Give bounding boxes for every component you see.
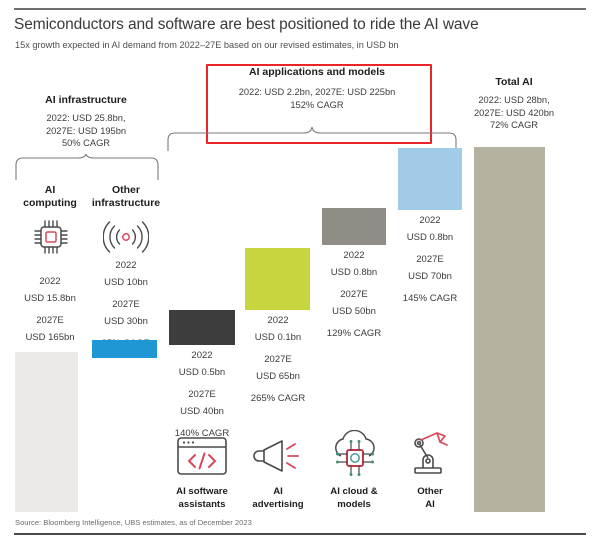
ai-cloud-stat-1: USD 0.8bn xyxy=(312,265,396,282)
ai-cloud-stat-4: 129% CAGR xyxy=(312,326,396,343)
group-title-total-ai: Total AI xyxy=(452,76,576,89)
total-line-1: 2022: USD 28bn, xyxy=(452,94,576,107)
ai-computing-stat-3: USD 165bn xyxy=(8,330,92,347)
group-stats-ai-applications: 2022: USD 2.2bn, 2027E: USD 225bn 152% C… xyxy=(208,86,426,111)
total-line-2: 2027E: USD 420bn xyxy=(452,107,576,120)
column-stats-ai-advertising: 2022 USD 0.1bn 2027E USD 65bn 265% CAGR xyxy=(236,313,320,408)
total-line-3: 72% CAGR xyxy=(452,119,576,132)
infra-line-1: 2022: USD 25.8bn, xyxy=(12,112,160,125)
source-note: Source: Bloomberg Intelligence, UBS esti… xyxy=(15,518,252,527)
group-title-ai-applications: AI applications and models xyxy=(208,66,426,79)
group-ai-applications: AI applications and models 2022: USD 2.2… xyxy=(208,66,426,111)
bar-other-ai xyxy=(398,148,462,210)
page-subtitle: 15x growth expected in AI demand from 20… xyxy=(15,40,590,50)
ai-computing-stat-2: 2027E xyxy=(8,313,92,330)
other-ai-stat-3: USD 70bn xyxy=(388,269,472,286)
brace-ai-infrastructure xyxy=(14,153,160,181)
other-ai-stat-1: USD 0.8bn xyxy=(388,230,472,247)
other-ai-label-1: Other xyxy=(388,485,472,498)
ai-cloud-stat-3: USD 50bn xyxy=(312,304,396,321)
ai-advertising-stat-1: USD 0.1bn xyxy=(236,330,320,347)
ai-computing-stat-0: 2022 xyxy=(8,274,92,291)
ai-advertising-stat-3: USD 65bn xyxy=(236,369,320,386)
infra-line-2: 2027E: USD 195bn xyxy=(12,125,160,138)
other-infra-label-1: Other xyxy=(84,184,168,197)
other-ai-stat-0: 2022 xyxy=(388,213,472,230)
ai-computing-label-2: computing xyxy=(14,197,86,210)
apps-line-2: 152% CAGR xyxy=(208,99,426,112)
group-title-ai-infrastructure: AI infrastructure xyxy=(12,94,160,107)
bar-ai-cloud-models xyxy=(322,208,386,245)
wireless-signal-icon xyxy=(103,216,149,263)
cloud-chip-icon xyxy=(326,430,384,483)
group-stats-total-ai: 2022: USD 28bn, 2027E: USD 420bn 72% CAG… xyxy=(452,94,576,132)
column-stats-ai-cloud-models: 2022 USD 0.8bn 2027E USD 50bn 129% CAGR xyxy=(312,248,396,343)
cpu-chip-icon xyxy=(30,216,72,263)
ai-advertising-label-1: AI xyxy=(236,485,320,498)
ai-computing-label-1: AI xyxy=(14,184,86,197)
robot-arm-icon xyxy=(404,430,456,483)
column-label-ai-software-assistants: AI software assistants xyxy=(160,485,244,511)
ai-cloud-stat-2: 2027E xyxy=(312,287,396,304)
ai-software-stat-2: 2027E xyxy=(160,387,244,404)
ai-software-stat-3: USD 40bn xyxy=(160,404,244,421)
page-title: Semiconductors and software are best pos… xyxy=(14,16,589,34)
group-ai-infrastructure: AI infrastructure 2022: USD 25.8bn, 2027… xyxy=(12,94,160,150)
group-stats-ai-infrastructure: 2022: USD 25.8bn, 2027E: USD 195bn 50% C… xyxy=(12,112,160,150)
bar-ai-computing xyxy=(15,352,78,512)
ai-cloud-stat-0: 2022 xyxy=(312,248,396,265)
ai-software-stat-0: 2022 xyxy=(160,348,244,365)
column-header-ai-computing: AI computing xyxy=(14,184,86,210)
ai-cloud-label-2: models xyxy=(312,498,396,511)
top-rule xyxy=(14,8,586,10)
other-ai-label-2: AI xyxy=(388,498,472,511)
other-ai-stat-2: 2027E xyxy=(388,252,472,269)
other-infra-stat-3: USD 30bn xyxy=(84,314,168,331)
bar-ai-advertising xyxy=(245,248,310,310)
other-infra-stat-2: 2027E xyxy=(84,297,168,314)
column-stats-other-infrastructure: 2022 USD 10bn 2027E USD 30bn 25% CAGR xyxy=(84,258,168,353)
column-label-ai-advertising: AI advertising xyxy=(236,485,320,511)
ai-software-stat-1: USD 0.5bn xyxy=(160,365,244,382)
column-stats-other-ai: 2022 USD 0.8bn 2027E USD 70bn 145% CAGR xyxy=(388,213,472,308)
other-infra-stat-1: USD 10bn xyxy=(84,275,168,292)
bar-total-ai xyxy=(474,147,545,512)
column-label-ai-cloud-models: AI cloud & models xyxy=(312,485,396,511)
other-ai-stat-4: 145% CAGR xyxy=(388,291,472,308)
ai-advertising-stat-2: 2027E xyxy=(236,352,320,369)
bar-other-infrastructure xyxy=(92,340,157,358)
bar-ai-software-assistants xyxy=(169,310,235,345)
megaphone-icon xyxy=(252,434,306,483)
ai-software-label-2: assistants xyxy=(160,498,244,511)
other-infra-label-2: infrastructure xyxy=(84,197,168,210)
column-stats-ai-software-assistants: 2022 USD 0.5bn 2027E USD 40bn 140% CAGR xyxy=(160,348,244,443)
code-window-icon xyxy=(174,434,230,483)
column-label-other-ai: Other AI xyxy=(388,485,472,511)
ai-computing-stat-1: USD 15.8bn xyxy=(8,291,92,308)
other-infra-stat-0: 2022 xyxy=(84,258,168,275)
column-header-other-infrastructure: Other infrastructure xyxy=(84,184,168,210)
ai-advertising-stat-4: 265% CAGR xyxy=(236,391,320,408)
group-total-ai: Total AI 2022: USD 28bn, 2027E: USD 420b… xyxy=(452,76,576,132)
ai-cloud-label-1: AI cloud & xyxy=(312,485,396,498)
bottom-rule xyxy=(14,533,586,535)
ai-software-label-1: AI software xyxy=(160,485,244,498)
apps-line-1: 2022: USD 2.2bn, 2027E: USD 225bn xyxy=(208,86,426,99)
ai-advertising-label-2: advertising xyxy=(236,498,320,511)
ai-advertising-stat-0: 2022 xyxy=(236,313,320,330)
infra-line-3: 50% CAGR xyxy=(12,137,160,150)
